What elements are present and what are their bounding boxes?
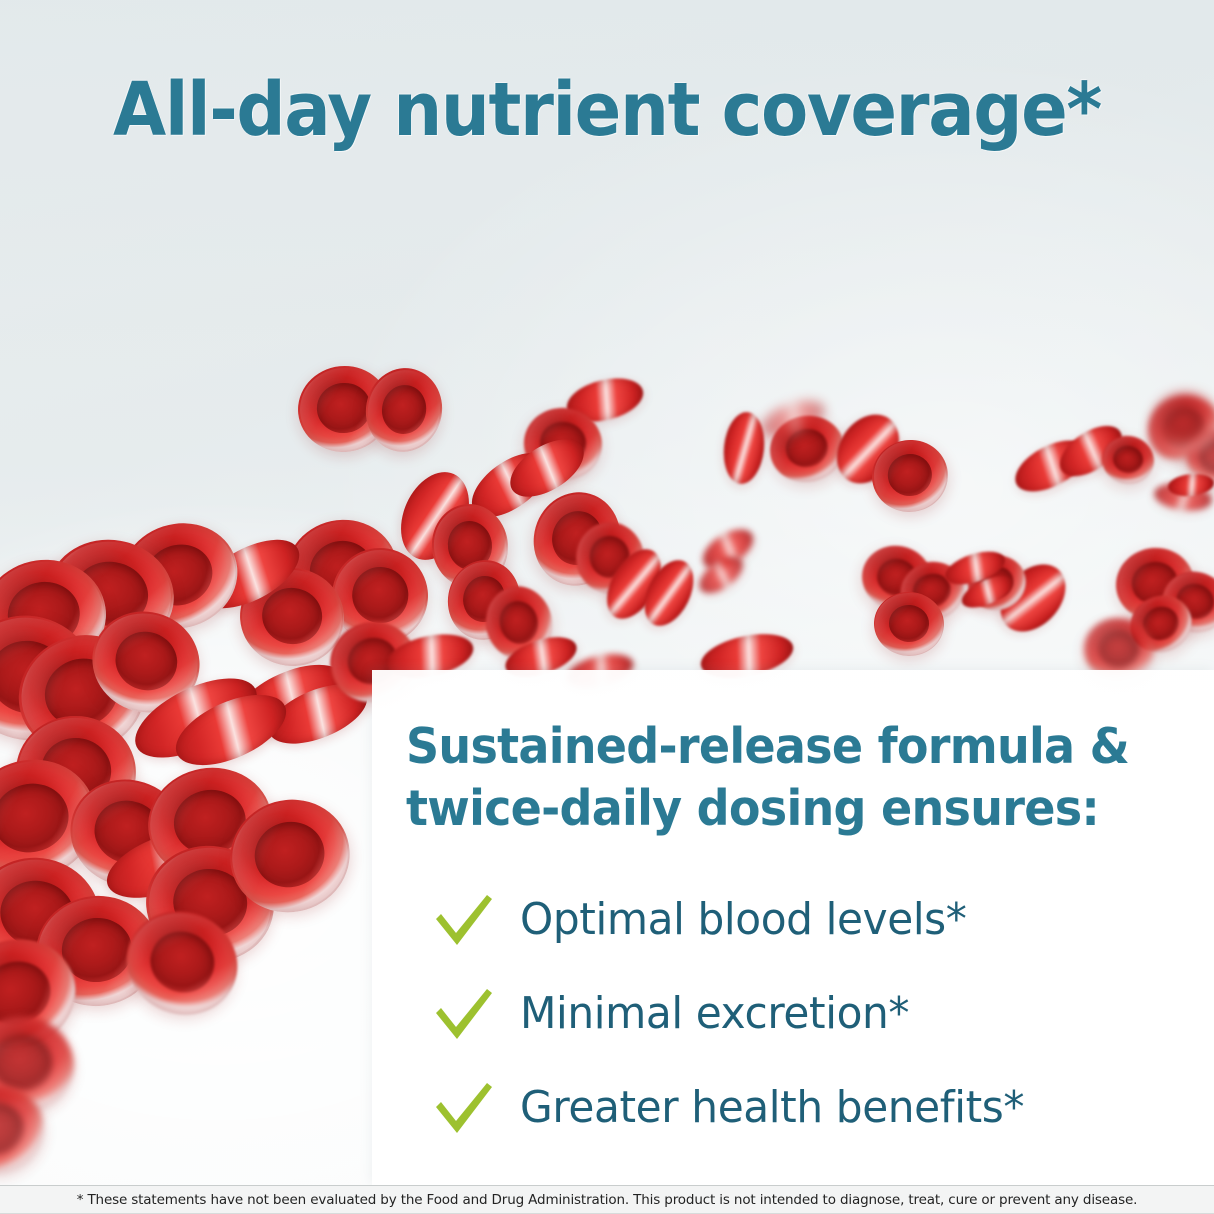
red-blood-cell: [570, 517, 649, 600]
red-blood-cell: [359, 362, 448, 458]
red-blood-cell: [867, 435, 952, 517]
promo-poster: All-day nutrient coverage* Sustained-rel…: [0, 0, 1214, 1214]
red-blood-cell: [0, 1077, 52, 1183]
red-blood-cell: [39, 530, 182, 660]
red-blood-cell-edge: [501, 428, 594, 509]
red-blood-cell-edge: [98, 816, 234, 911]
disclaimer-bar: * These statements have not been evaluat…: [0, 1185, 1214, 1214]
red-blood-cell: [0, 1008, 82, 1121]
red-blood-cell-edge: [635, 552, 703, 633]
list-item: Greater health benefits*: [406, 1061, 1192, 1155]
red-blood-cell-edge: [693, 550, 749, 600]
red-blood-cell-edge: [226, 651, 354, 748]
red-blood-cell: [894, 555, 970, 627]
benefits-card-content: Sustained-release formula & twice-daily …: [406, 716, 1192, 1171]
benefits-list: Optimal blood levels* Minimal excretion*…: [406, 873, 1192, 1155]
red-blood-cell: [523, 482, 632, 596]
red-blood-cell: [1152, 392, 1214, 452]
red-blood-cell-edge: [1007, 430, 1095, 502]
benefit-label: Greater health benefits*: [520, 1086, 1024, 1130]
red-blood-cell: [961, 548, 1034, 619]
red-blood-cell-edge: [988, 552, 1079, 645]
red-blood-cell: [520, 404, 605, 484]
red-blood-cell: [139, 758, 280, 888]
red-blood-cell-edge: [190, 526, 310, 623]
red-blood-cell: [78, 597, 214, 728]
page-title: All-day nutrient coverage*: [42, 72, 1171, 150]
red-blood-cell-edge: [824, 403, 912, 496]
red-blood-cell-edge: [941, 545, 1009, 591]
red-blood-cell: [1121, 586, 1200, 662]
red-blood-cell-edge: [1152, 480, 1213, 514]
red-blood-cell: [855, 538, 938, 617]
red-blood-cell: [217, 786, 363, 927]
benefits-card: Sustained-release formula & twice-daily …: [372, 670, 1214, 1185]
red-blood-cell: [1098, 431, 1159, 489]
red-blood-cell-edge: [1051, 416, 1130, 487]
red-blood-cell: [56, 765, 199, 902]
red-blood-cell: [107, 508, 251, 643]
check-icon: [432, 1077, 494, 1139]
red-blood-cell-edge: [957, 570, 1016, 614]
red-blood-cell: [294, 361, 394, 456]
red-blood-cell-edge: [388, 461, 482, 570]
list-item: Minimal excretion*: [406, 967, 1192, 1061]
red-blood-cell-edge: [720, 410, 767, 486]
check-icon: [432, 889, 494, 951]
red-blood-cell: [1140, 387, 1214, 470]
red-blood-cell: [1177, 420, 1214, 496]
red-blood-cell: [478, 579, 560, 667]
red-blood-cell: [276, 509, 407, 634]
red-blood-cell: [442, 554, 527, 645]
benefits-subheading-line-2: twice-daily dosing ensures:: [406, 778, 1145, 840]
red-blood-cell: [139, 838, 282, 971]
red-blood-cell-edge: [596, 540, 672, 628]
benefits-subheading-line-1: Sustained-release formula &: [406, 716, 1145, 778]
red-blood-cell: [1, 616, 163, 772]
red-blood-cell: [0, 846, 110, 984]
red-blood-cell: [1154, 563, 1214, 640]
red-blood-cell: [0, 746, 108, 892]
red-blood-cell-edge: [261, 672, 375, 755]
benefits-subheading: Sustained-release formula & twice-daily …: [406, 716, 1145, 839]
check-icon: [432, 983, 494, 1045]
red-blood-cell: [0, 552, 113, 680]
red-blood-cell-edge: [757, 394, 829, 445]
red-blood-cell: [764, 409, 850, 489]
red-blood-cell-edge: [461, 441, 559, 530]
benefit-label: Optimal blood levels*: [520, 898, 967, 942]
red-blood-cell: [234, 561, 351, 673]
red-blood-cell: [1110, 542, 1199, 626]
red-blood-cell-edge: [1167, 472, 1214, 499]
red-blood-cell: [872, 590, 946, 659]
red-blood-cell-edge: [562, 371, 647, 429]
red-blood-cell: [111, 895, 253, 1032]
red-blood-cell: [10, 710, 141, 834]
red-blood-cell: [321, 537, 440, 656]
list-item: Optimal blood levels*: [406, 873, 1192, 967]
red-blood-cell: [0, 601, 109, 754]
disclaimer-text: * These statements have not been evaluat…: [77, 1192, 1138, 1208]
red-blood-cell: [427, 499, 514, 593]
benefit-label: Minimal excretion*: [520, 992, 909, 1036]
red-blood-cell-edge: [166, 680, 297, 779]
red-blood-cell-edge: [124, 662, 269, 774]
red-blood-cell: [31, 890, 164, 1012]
red-blood-cell: [0, 924, 90, 1064]
red-blood-cell-edge: [696, 521, 759, 576]
